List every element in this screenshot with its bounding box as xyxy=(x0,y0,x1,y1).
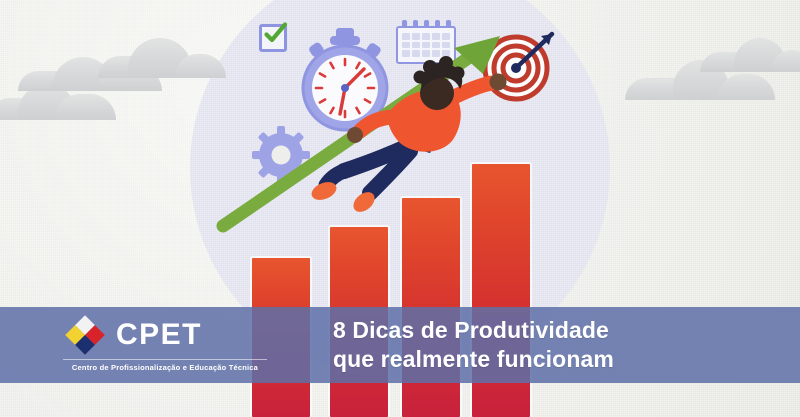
brand-logo[interactable]: CPET Centro de Profissionalização e Educ… xyxy=(63,315,273,377)
brand-tagline: Centro de Profissionalização e Educação … xyxy=(63,364,267,372)
promo-banner: CPET Centro de Profissionalização e Educ… xyxy=(0,0,800,417)
title-band: CPET Centro de Profissionalização e Educ… xyxy=(0,307,800,383)
headline-line-2: que realmente funcionam xyxy=(333,345,614,374)
headline: 8 Dicas de Produtividade que realmente f… xyxy=(333,316,614,374)
diamond-logo-icon xyxy=(63,313,107,357)
cloud-left-c xyxy=(98,40,228,78)
cloud-right-b xyxy=(700,38,800,72)
brand-name: CPET xyxy=(116,320,202,350)
logo-divider xyxy=(63,359,267,360)
headline-line-1: 8 Dicas de Produtividade xyxy=(333,316,614,345)
